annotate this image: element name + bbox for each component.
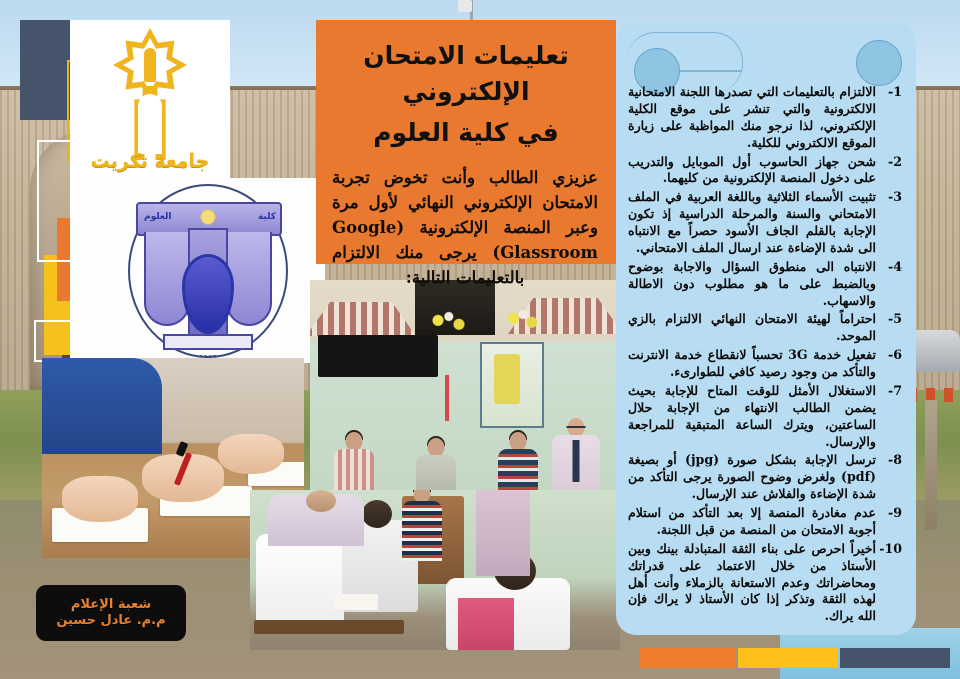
seal-sunburst-icon [197,206,219,228]
list-item: الانتباه الى منطوق السؤال والاجابة بوضوح… [628,259,902,310]
intro-paragraph: عزيزي الطالب وأنت تخوض تجربة الامتحان ال… [316,151,616,290]
hand [218,434,284,474]
swirl-decoration-bottom [850,30,916,90]
striped-polo [498,449,538,495]
college-seal: كلية العلوم 1987 [110,178,306,364]
list-item: أخيراً احرص على بناء الثقة المتبادلة بين… [628,541,902,625]
wall-map [480,342,544,428]
swirl-disc-icon [856,40,902,86]
person-standing [400,490,444,554]
desk-edge [254,620,404,634]
flower-arrangement [498,308,550,334]
university-emblem: جامعة تكريت [88,24,212,174]
seal-text-right: كلية [258,212,276,222]
pink-sash [458,598,514,650]
emblem-tower-inner-icon [138,94,162,154]
list-item: الالتزام بالتعليمات التي تصدرها اللجنة ا… [628,84,902,152]
page-title: تعليمات الامتحان الإلكتروني في كلية العل… [316,20,616,151]
emblem-pen-icon [144,48,156,82]
student-head [362,500,392,528]
footer-bar-slate [840,648,950,668]
person-standing [496,432,540,495]
title-line-1: تعليمات الامتحان الإلكتروني [363,41,569,106]
list-item: شحن جهاز الحاسوب أول الموبايل والتدريب ع… [628,154,902,188]
list-item: تفعيل خدمة 3G تحسباً لانقطاع خدمة الانتر… [628,347,902,381]
footer-bar-orange [640,648,736,668]
person-in-pink-shirt [476,490,530,576]
list-item: احتراماً لهيئة الامتحان النهائي الالتزام… [628,311,902,345]
instructions-panel: الالتزام بالتعليمات التي تصدرها اللجنة ا… [616,22,916,635]
flag-stick [445,375,449,421]
list-item: ترسل الإجابة بشكل صورة (jpg) أو بصيغة (p… [628,452,902,503]
background-flag [458,0,472,12]
instructions-list: الالتزام بالتعليمات التي تصدرها اللجنة ا… [616,22,916,635]
striped-shirt [334,449,374,495]
list-item: عدم مغادرة المنصة إلا بعد التأكد من استل… [628,505,902,539]
photo-classroom [310,280,620,495]
list-item: تثبيت الأسماء الثلاثية وباللغة العربية ف… [628,189,902,257]
swirl-decoration-top [624,30,744,88]
headline-panel: تعليمات الامتحان الإلكتروني في كلية العل… [316,20,616,264]
badge-line-1: شعبة الإعلام [71,598,151,613]
footer-bar-gold [738,648,838,668]
seal-text-left: العلوم [144,212,171,222]
person-standing [414,438,458,495]
background-post [925,400,937,530]
striped-polo [402,501,442,561]
photo-exam-hall [250,490,620,650]
list-item: الاستغلال الأمثل للوقت المتاح للإجابة بح… [628,383,902,451]
university-name: جامعة تكريت [91,150,210,172]
title-line-2: في كلية العلوم [332,115,600,151]
student-shirt [42,358,162,454]
seal-base [163,334,253,350]
grey-shirt [416,455,456,495]
media-unit-badge: شعبة الإعلام م.م. عادل حسين [36,585,186,641]
wall-television [318,335,438,377]
eyeglasses-icon [567,426,586,433]
person-professor [550,418,602,495]
poster-canvas: جامعة تكريت كلية العلوم 1987 [0,0,960,679]
hand [62,476,138,522]
person-standing [332,432,376,495]
invigilator-head [306,490,336,512]
answer-sheet [334,594,378,610]
flower-arrangement [420,310,480,336]
student-shirt [256,534,344,630]
necktie [573,440,580,482]
map-region [494,354,520,404]
badge-line-2: م.م. عادل حسين [56,614,165,629]
